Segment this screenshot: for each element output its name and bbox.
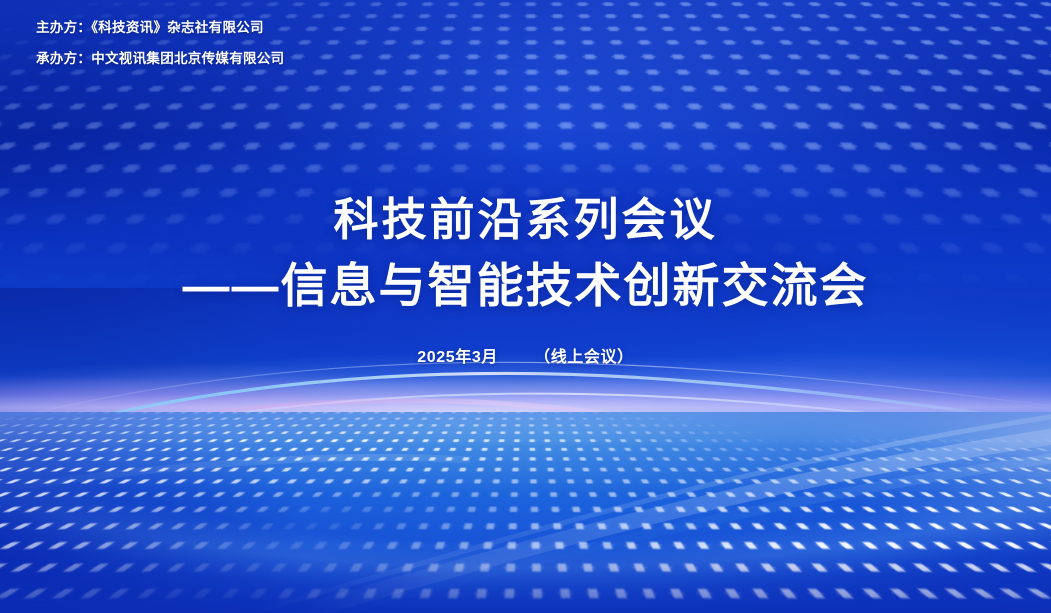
host-organizer-line: 主办方：《科技资讯》杂志社有限公司 bbox=[36, 21, 284, 35]
globe-surface bbox=[0, 412, 1051, 613]
conference-title-line1: 科技前沿系列会议 bbox=[0, 193, 1051, 246]
organizer-block: 主办方：《科技资讯》杂志社有限公司 承办方：中文视讯集团北京传媒有限公司 bbox=[36, 21, 284, 82]
conference-title-line2: ——信息与智能技术创新交流会 bbox=[0, 257, 1051, 314]
globe-dotted-continents bbox=[0, 412, 1051, 613]
conference-date: 2025年3月 bbox=[417, 349, 498, 366]
conference-mode: （线上会议） bbox=[534, 349, 634, 366]
conference-meta-line: 2025年3月 （线上会议） bbox=[0, 343, 1051, 367]
title-block: 科技前沿系列会议 ——信息与智能技术创新交流会 bbox=[0, 193, 1051, 314]
globe-dot-fade bbox=[0, 412, 1051, 613]
conference-title-slide: 主办方：《科技资讯》杂志社有限公司 承办方：中文视讯集团北京传媒有限公司 科技前… bbox=[0, 0, 1051, 613]
co-host-organizer-line: 承办方：中文视讯集团北京传媒有限公司 bbox=[36, 52, 284, 66]
